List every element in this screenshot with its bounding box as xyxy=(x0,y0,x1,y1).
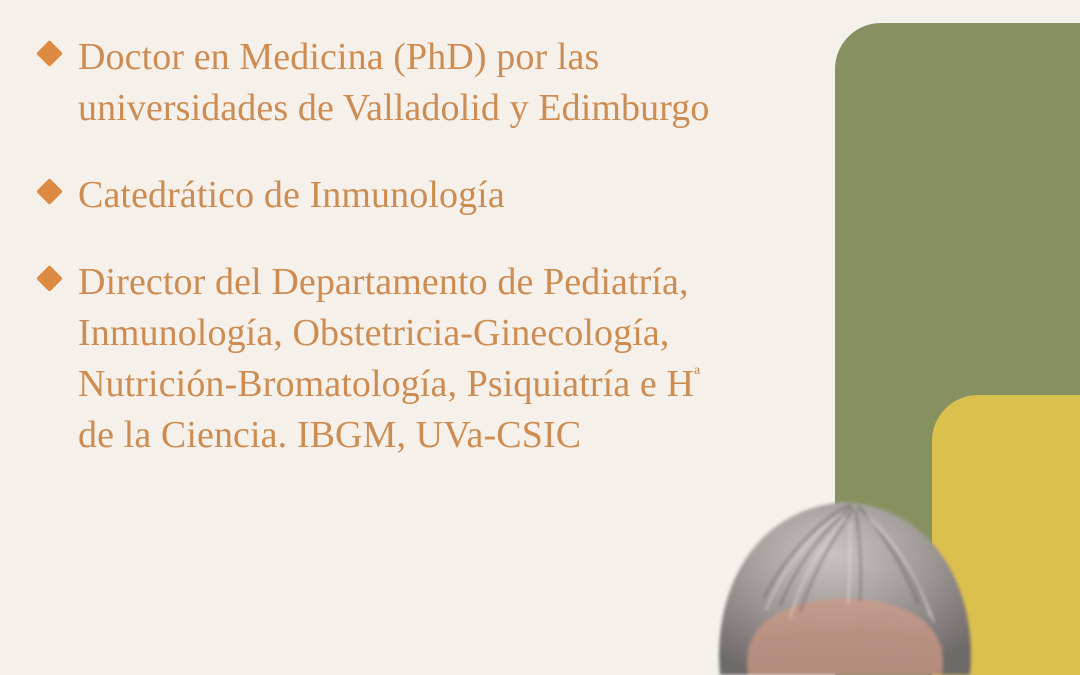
diamond-bullet-icon xyxy=(36,178,63,205)
credentials-list: Doctor en Medicina (PhD) por las univers… xyxy=(0,0,835,461)
slide-canvas: Doctor en Medicina (PhD) por las univers… xyxy=(0,0,1080,675)
diamond-bullet-icon xyxy=(36,265,63,292)
credential-text-part-1: Director del Departamento de Pediatría, … xyxy=(78,261,694,405)
credential-text-part-2: de la Ciencia. IBGM, UVa-CSIC xyxy=(78,414,581,456)
credential-text: Catedrático de Inmunología xyxy=(78,170,835,221)
credential-text: Doctor en Medicina (PhD) por las univers… xyxy=(78,32,835,134)
list-item: Catedrático de Inmunología xyxy=(40,170,835,221)
credential-text: Director del Departamento de Pediatría, … xyxy=(78,257,835,461)
list-item: Director del Departamento de Pediatría, … xyxy=(40,257,835,461)
portrait-photo xyxy=(700,470,990,675)
list-item: Doctor en Medicina (PhD) por las univers… xyxy=(40,32,835,134)
diamond-bullet-icon xyxy=(36,40,63,67)
ordinal-superscript: ª xyxy=(694,362,700,387)
